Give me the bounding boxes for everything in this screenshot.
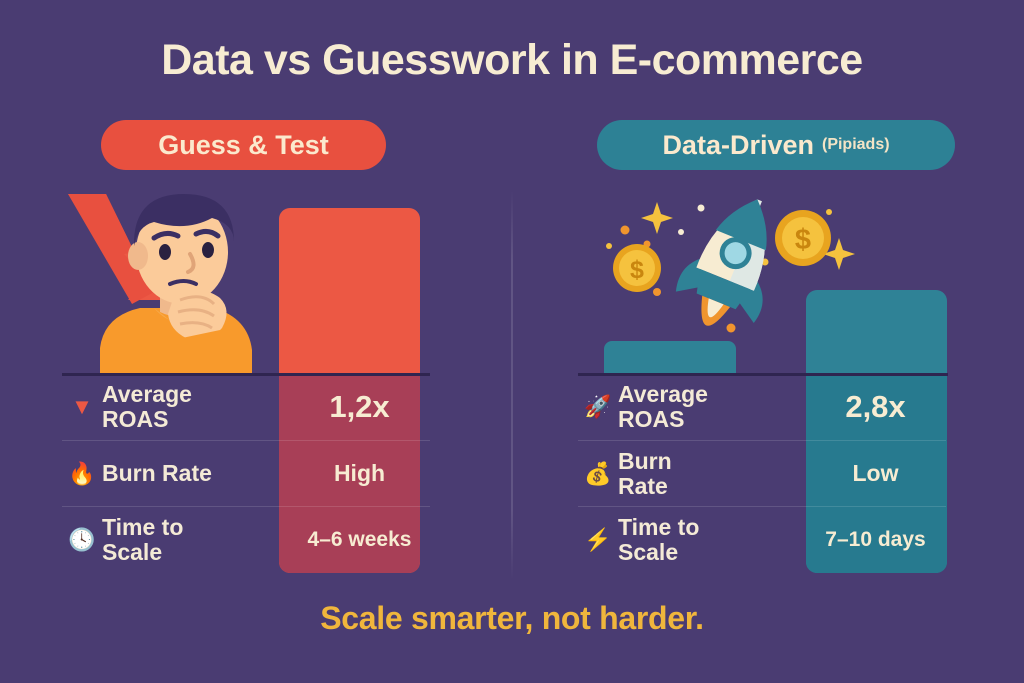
row-label: Average ROAS — [102, 382, 213, 432]
table-row: 💰 Burn Rate Low — [578, 440, 946, 506]
clock-icon: 🕓 — [62, 529, 102, 551]
table-row: 🕓 Time to Scale 4–6 weeks — [62, 506, 430, 572]
row-label: Time to Scale — [618, 515, 718, 565]
page-title: Data vs Guesswork in E-commerce — [0, 36, 1024, 85]
row-value: High — [289, 460, 430, 487]
row-label: Average ROAS — [618, 382, 718, 432]
row-label: Burn Rate — [102, 461, 213, 486]
row-value: 4–6 weeks — [289, 528, 430, 552]
coin-icon-right: $ — [775, 210, 831, 266]
table-row: 🔥 Burn Rate High — [62, 440, 430, 506]
rocket-icon: 🚀 — [578, 396, 618, 418]
badge-right-sublabel: (Pipiads) — [822, 136, 890, 154]
badge-guess-and-test: Guess & Test — [101, 120, 386, 170]
down-triangle-icon: ▼ — [62, 396, 102, 418]
bar-step-small — [604, 341, 736, 374]
row-value: 2,8x — [805, 389, 946, 425]
row-value: 7–10 days — [805, 528, 946, 552]
footer-tagline: Scale smarter, not harder. — [0, 600, 1024, 637]
flame-icon: 🔥 — [62, 463, 102, 485]
svg-text:$: $ — [630, 256, 644, 284]
infographic-canvas: Data vs Guesswork in E-commerce Guess & … — [0, 0, 1024, 683]
rocket-icon — [667, 188, 799, 342]
table-row: 🚀 Average ROAS 2,8x — [578, 374, 946, 440]
metrics-table-right: 🚀 Average ROAS 2,8x 💰 Burn Rate Low ⚡ Ti… — [578, 374, 946, 574]
badge-right-label: Data-Driven — [662, 130, 814, 161]
row-label: Burn Rate — [618, 449, 718, 499]
svg-text:$: $ — [795, 224, 811, 256]
table-row: ⚡ Time to Scale 7–10 days — [578, 506, 946, 572]
badge-left-label: Guess & Test — [158, 130, 329, 161]
metrics-table-left: ▼ Average ROAS 1,2x 🔥 Burn Rate High 🕓 T… — [62, 374, 430, 574]
money-bag-icon: 💰 — [578, 463, 618, 485]
center-divider — [511, 190, 513, 580]
illustration-worried-man — [62, 188, 292, 374]
table-row: ▼ Average ROAS 1,2x — [62, 374, 430, 440]
badge-data-driven: Data-Driven (Pipiads) — [597, 120, 955, 170]
coin-icon-left: $ — [613, 244, 661, 292]
row-label: Time to Scale — [102, 515, 213, 565]
row-value: Low — [805, 460, 946, 487]
row-value: 1,2x — [289, 389, 430, 425]
lightning-icon: ⚡ — [578, 529, 618, 551]
